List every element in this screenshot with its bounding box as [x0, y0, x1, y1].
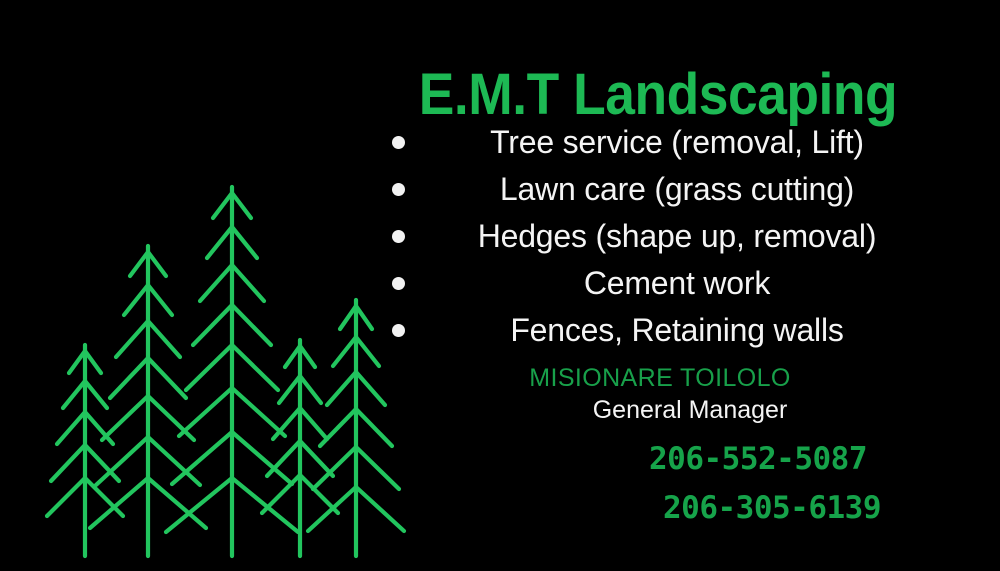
pine-tree-1 — [47, 345, 123, 556]
bullet-dot-icon — [392, 183, 405, 196]
pine-tree-4 — [262, 340, 338, 556]
pine-tree-2 — [90, 246, 206, 556]
list-item: Cement work — [380, 259, 940, 306]
page-title: E.M.T Landscaping — [402, 65, 914, 126]
services-list: Tree service (removal, Lift) Lawn care (… — [380, 118, 940, 353]
card-content: E.M.T Landscaping Tree service (removal,… — [380, 0, 1000, 571]
pine-tree-3 — [166, 187, 298, 556]
service-label: Tree service (removal, Lift) — [380, 126, 940, 158]
contact-name: MISIONARE TOILOLO — [380, 364, 940, 393]
service-label: Cement work — [380, 267, 940, 299]
business-card: E.M.T Landscaping Tree service (removal,… — [0, 0, 1000, 571]
contact-role: General Manager — [380, 396, 1000, 425]
list-item: Tree service (removal, Lift) — [380, 118, 940, 165]
list-item: Lawn care (grass cutting) — [380, 165, 940, 212]
bullet-dot-icon — [392, 230, 405, 243]
phone-number-secondary[interactable]: 206-305-6139 — [550, 493, 980, 524]
list-item: Fences, Retaining walls — [380, 306, 940, 353]
bullet-dot-icon — [392, 277, 405, 290]
bullet-dot-icon — [392, 324, 405, 337]
service-label: Lawn care (grass cutting) — [380, 173, 940, 205]
phone-number-primary[interactable]: 206-552-5087 — [550, 444, 980, 475]
phone-list: 206-552-5087 206-305-6139 — [550, 444, 980, 524]
service-label: Fences, Retaining walls — [380, 314, 940, 346]
pine-tree-line-art — [0, 0, 420, 571]
service-label: Hedges (shape up, removal) — [380, 220, 940, 252]
list-item: Hedges (shape up, removal) — [380, 212, 940, 259]
bullet-dot-icon — [392, 136, 405, 149]
